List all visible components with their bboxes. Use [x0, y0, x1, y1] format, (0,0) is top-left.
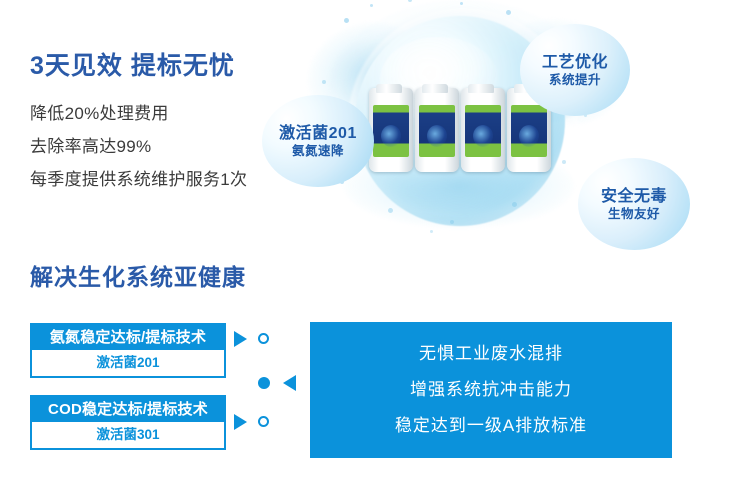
- water-droplet-icon: [562, 160, 566, 164]
- bottle-cap-icon: [468, 84, 494, 93]
- connector-triangle-right-icon: [234, 414, 247, 430]
- hero-bullet-item: 去除率高达99%: [30, 130, 290, 163]
- water-droplet-icon: [506, 10, 511, 15]
- feature-badge-subtitle: 氨氮速降: [292, 143, 344, 159]
- product-bottle: [369, 88, 413, 172]
- hero-bullet-item: 每季度提供系统维护服务1次: [30, 163, 290, 196]
- product-bottle: [415, 88, 459, 172]
- feature-badge-subtitle: 系统提升: [549, 72, 601, 88]
- water-droplet-icon: [460, 2, 463, 5]
- bottle-label: [419, 105, 455, 157]
- water-droplet-icon: [344, 18, 349, 23]
- water-droplet-icon: [322, 80, 326, 84]
- hero-bullet-item: 降低20%处理费用: [30, 97, 290, 130]
- feature-badge-process-optimization: 工艺优化 系统提升: [520, 24, 630, 116]
- tech-box-product: 激活菌301: [32, 422, 224, 448]
- product-bottle: [461, 88, 505, 172]
- poster-canvas: 3天见效 提标无忧 降低20%处理费用 去除率高达99% 每季度提供系统维护服务…: [0, 0, 740, 492]
- bottle-label: [465, 105, 501, 157]
- hero-bullet-list: 降低20%处理费用 去除率高达99% 每季度提供系统维护服务1次: [30, 97, 290, 196]
- water-droplet-icon: [408, 0, 412, 2]
- feature-badge-title: 激活菌201: [279, 124, 357, 143]
- bottle-cap-icon: [422, 84, 448, 93]
- water-droplet-icon: [388, 208, 393, 213]
- benefit-line: 稳定达到一级A排放标准: [395, 408, 587, 444]
- bottle-label: [511, 105, 547, 157]
- bottle-label: [373, 105, 409, 157]
- connector-circle-hollow-icon: [258, 416, 269, 427]
- bottle-cap-icon: [376, 84, 402, 93]
- tech-box-cod: COD稳定达标/提标技术 激活菌301: [30, 395, 226, 450]
- connector-circle-hollow-icon: [258, 333, 269, 344]
- feature-badge-title: 安全无毒: [601, 187, 667, 206]
- tech-box-header: COD稳定达标/提标技术: [32, 397, 224, 422]
- benefit-line: 增强系统抗冲击能力: [410, 372, 572, 408]
- benefits-panel: 无惧工业废水混排 增强系统抗冲击能力 稳定达到一级A排放标准: [310, 322, 672, 458]
- connector-circle-solid-icon: [258, 377, 270, 389]
- benefit-line: 无惧工业废水混排: [419, 336, 563, 372]
- product-bottle-group: [369, 88, 551, 172]
- water-droplet-icon: [430, 230, 433, 233]
- connector-triangle-right-icon: [234, 331, 247, 347]
- feature-badge-subtitle: 生物友好: [608, 206, 660, 222]
- feature-badge-activator-201: 激活菌201 氨氮速降: [262, 95, 374, 187]
- feature-badge-title: 工艺优化: [542, 53, 608, 72]
- tech-box-header: 氨氮稳定达标/提标技术: [32, 325, 224, 350]
- section-title: 解决生化系统亚健康: [30, 258, 246, 292]
- water-droplet-icon: [370, 4, 373, 7]
- connector-triangle-left-icon: [283, 375, 296, 391]
- water-droplet-icon: [450, 220, 454, 224]
- hero-headline: 3天见效 提标无忧: [30, 46, 235, 82]
- water-droplet-icon: [512, 202, 517, 207]
- feature-badge-non-toxic: 安全无毒 生物友好: [578, 158, 690, 250]
- tech-box-ammonia: 氨氮稳定达标/提标技术 激活菌201: [30, 323, 226, 378]
- tech-box-product: 激活菌201: [32, 350, 224, 376]
